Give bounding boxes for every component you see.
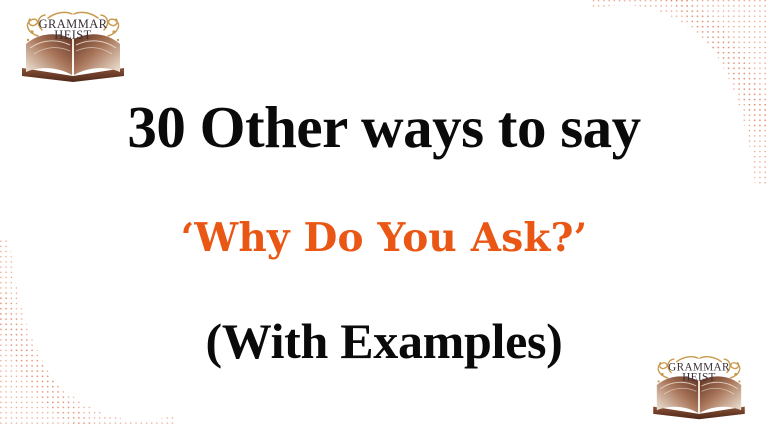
footer-title: (With Examples) xyxy=(0,258,768,366)
headline-stack: 30 Other ways to say ‘Why Do You Ask?’ (… xyxy=(0,98,768,366)
brand-name-line2: HEIST xyxy=(682,372,716,384)
quoted-phrase-title: ‘Why Do You Ask?’ xyxy=(0,157,768,258)
title-card: GRAMMAR HEIST xyxy=(0,0,768,427)
brand-name-line2: HEIST xyxy=(54,28,91,42)
main-title: 30 Other ways to say xyxy=(0,98,768,157)
brand-logo-top-left[interactable]: GRAMMAR HEIST xyxy=(12,6,134,84)
